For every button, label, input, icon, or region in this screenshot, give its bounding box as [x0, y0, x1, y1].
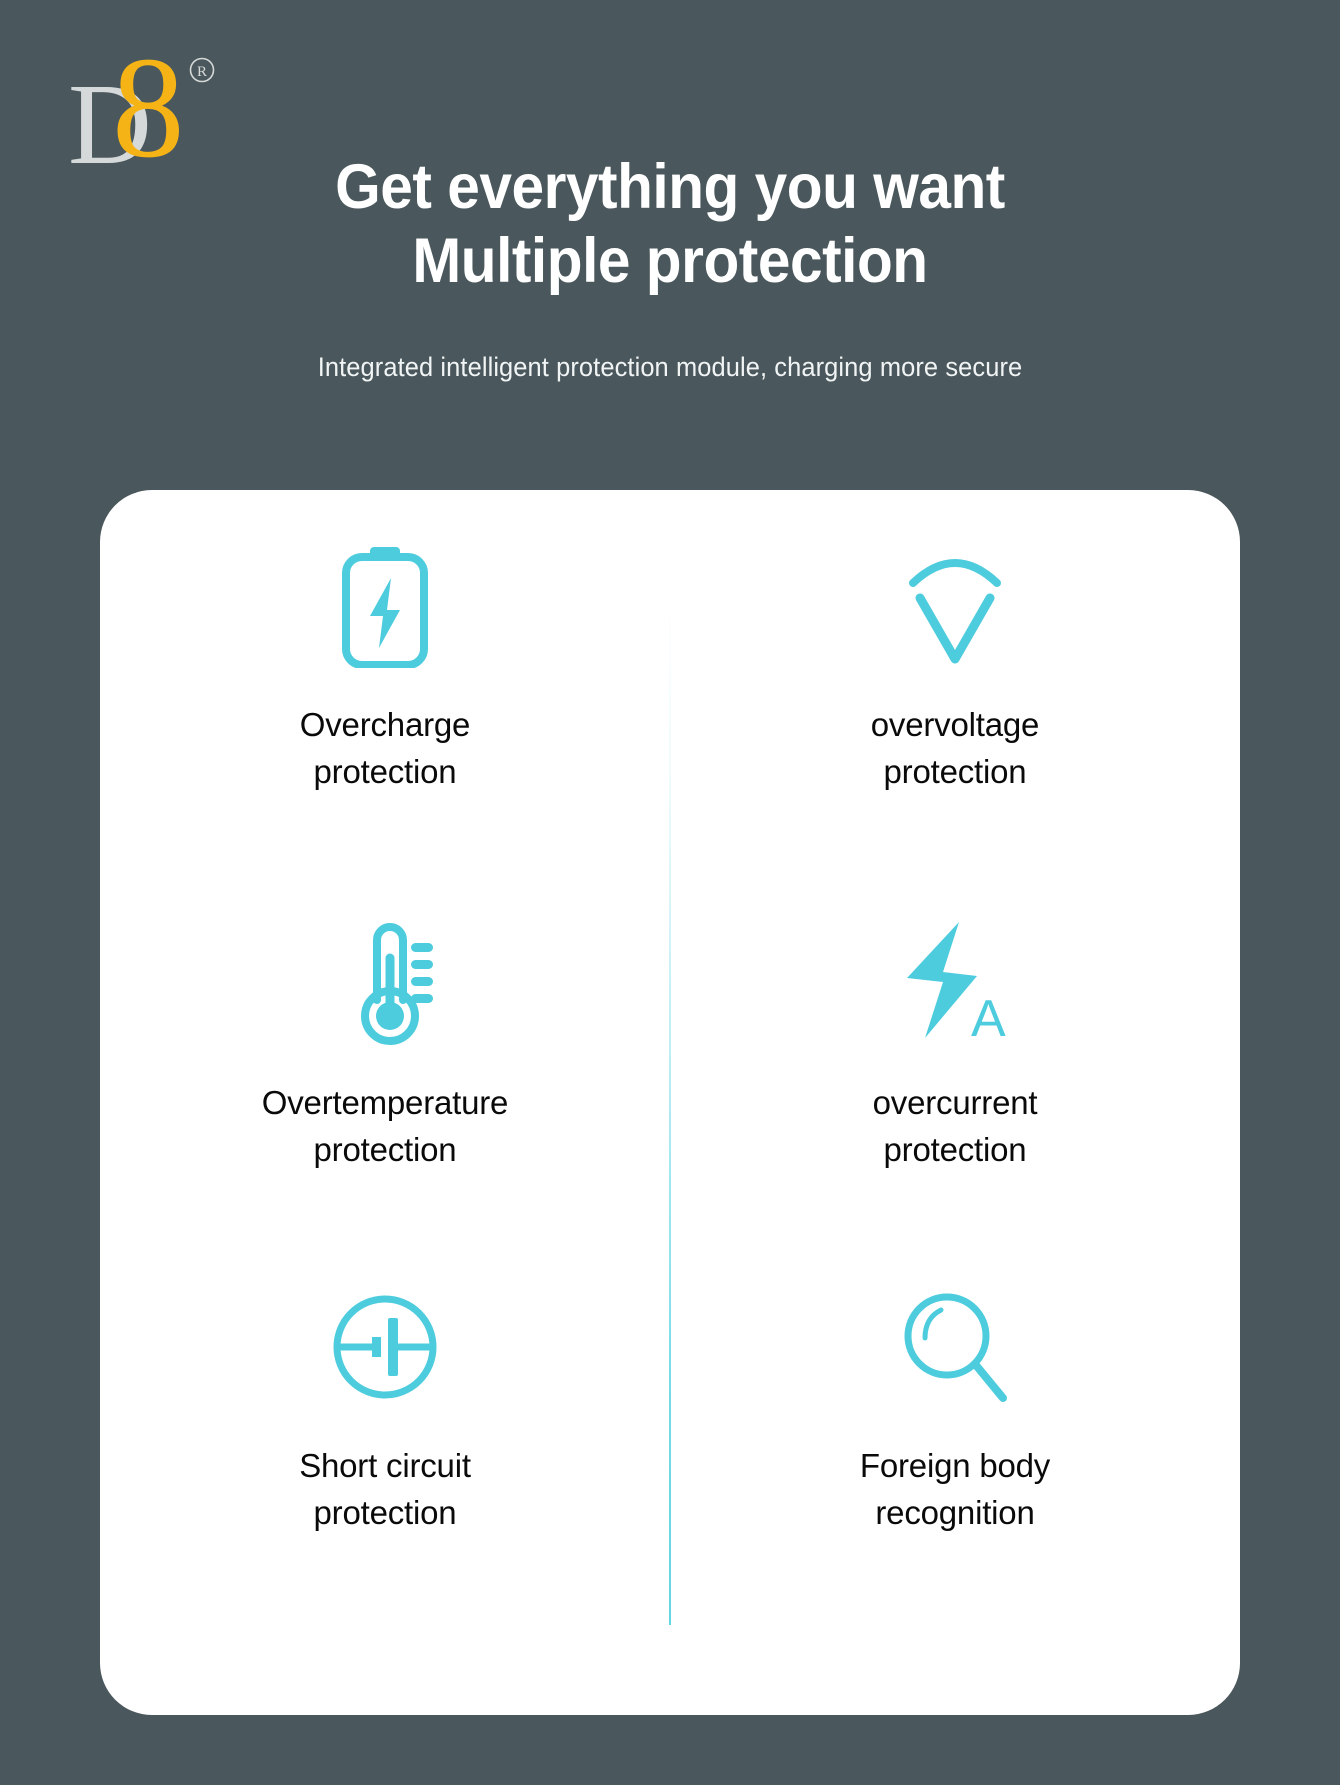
- voltage-v-icon: [903, 538, 1007, 674]
- feature-label: Overtemperature protection: [262, 1080, 508, 1174]
- feature-label: Short circuit protection: [299, 1443, 471, 1537]
- battery-charging-icon: [339, 538, 431, 674]
- feature-overvoltage-protection: overvoltage protection: [670, 538, 1240, 912]
- short-circuit-icon: [330, 1287, 440, 1407]
- page-title: Get everything you want Multiple protect…: [47, 150, 1293, 299]
- lightning-ampere-icon: A: [899, 912, 1011, 1052]
- page-subtitle: Integrated intelligent protection module…: [27, 299, 1313, 383]
- ampere-letter: A: [971, 990, 1006, 1044]
- feature-label: Overcharge protection: [300, 702, 470, 796]
- protection-features-card: Overcharge protection overvoltage protec…: [100, 490, 1240, 1715]
- feature-overtemperature-protection: Overtemperature protection: [100, 912, 670, 1286]
- thermometer-icon: [335, 912, 435, 1052]
- header-block: Get everything you want Multiple protect…: [0, 150, 1340, 383]
- feature-label: Foreign body recognition: [860, 1443, 1050, 1537]
- page-title-line-2: Multiple protection: [47, 224, 1293, 298]
- page-title-line-1: Get everything you want: [47, 150, 1293, 224]
- feature-short-circuit-protection: Short circuit protection: [100, 1287, 670, 1661]
- feature-overcurrent-protection: A overcurrent protection: [670, 912, 1240, 1286]
- feature-foreign-body-recognition: Foreign body recognition: [670, 1287, 1240, 1661]
- registered-mark-letter: R: [197, 64, 207, 80]
- magnifier-icon: [899, 1287, 1011, 1407]
- feature-label: overvoltage protection: [871, 702, 1039, 796]
- features-grid: Overcharge protection overvoltage protec…: [100, 490, 1240, 1715]
- feature-label: overcurrent protection: [873, 1080, 1038, 1174]
- feature-overcharge-protection: Overcharge protection: [100, 538, 670, 912]
